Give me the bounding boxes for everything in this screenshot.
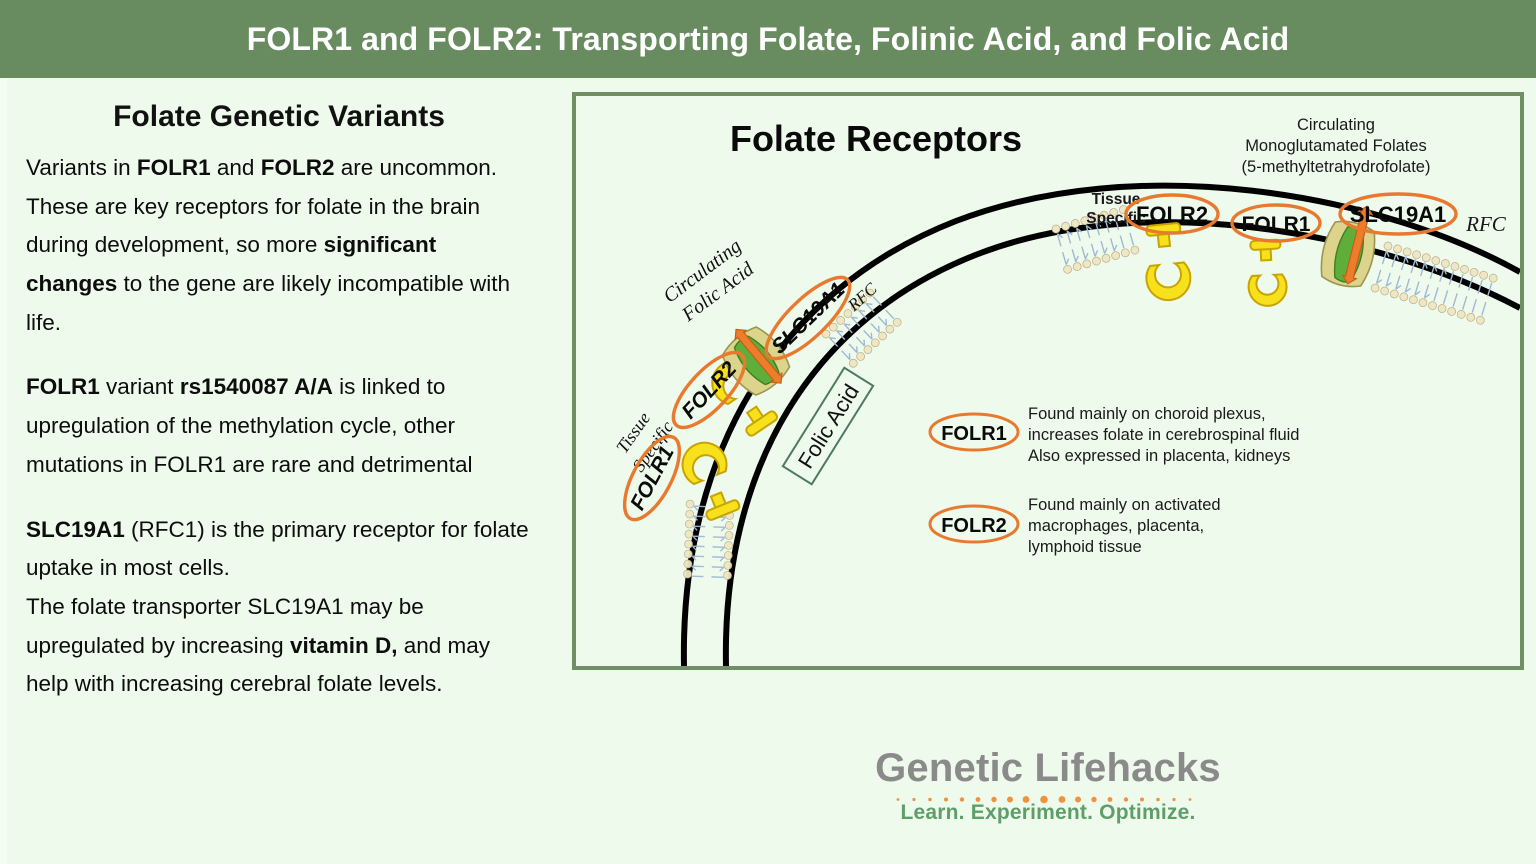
svg-text:FOLR2: FOLR2 xyxy=(941,515,1007,537)
svg-text:FOLR2: FOLR2 xyxy=(1136,202,1208,227)
svg-text:SLC19A1: SLC19A1 xyxy=(1350,202,1447,227)
svg-text:lymphoid tissue: lymphoid tissue xyxy=(1028,538,1142,556)
brand-tagline: Learn. Experiment. Optimize. xyxy=(572,801,1524,825)
paragraph-variants: Variants in FOLR1 and FOLR2 are uncommon… xyxy=(26,149,532,342)
diagram-panel: Folate Receptors Circulating Monoglutama… xyxy=(572,92,1524,670)
brand-name: Genetic Lifehacks xyxy=(572,748,1524,788)
page-header: FOLR1 and FOLR2: Transporting Folate, Fo… xyxy=(0,0,1536,78)
svg-text:Monoglutamated Folates: Monoglutamated Folates xyxy=(1245,137,1427,155)
svg-text:macrophages, placenta,: macrophages, placenta, xyxy=(1028,517,1204,535)
brand-logo: Genetic Lifehacks Learn. Experiment. Opt… xyxy=(572,748,1524,825)
folic-acid-box-label: Folic Acid xyxy=(783,368,873,484)
rfc-label-right: RFC xyxy=(1465,212,1507,236)
svg-text:increases folate in cerebrospi: increases folate in cerebrospinal fluid xyxy=(1028,426,1300,444)
brand-dot-divider xyxy=(572,791,1524,800)
svg-text:Also expressed in placenta, ki: Also expressed in placenta, kidneys xyxy=(1028,447,1290,465)
page-title: FOLR1 and FOLR2: Transporting Folate, Fo… xyxy=(247,21,1290,58)
section-heading: Folate Genetic Variants xyxy=(26,100,532,133)
svg-text:Found mainly on choroid plexus: Found mainly on choroid plexus, xyxy=(1028,405,1266,423)
slc19a1-tag-right: SLC19A1 xyxy=(1340,194,1456,234)
svg-text:FOLR1: FOLR1 xyxy=(1242,213,1311,236)
folr2-tag-left: FOLR2 xyxy=(662,342,755,438)
svg-text:(5-methyltetrahydrofolate): (5-methyltetrahydrofolate) xyxy=(1242,158,1431,176)
folr1-receptor-glyph-top xyxy=(1246,239,1287,307)
paragraph-folr1-variant: FOLR1 variant rs1540087 A/A is linked to… xyxy=(26,368,532,484)
diagram-title: Folate Receptors xyxy=(730,118,1022,159)
circulating-folic-acid-label: Circulating Folic Acid xyxy=(659,235,761,328)
svg-text:Found mainly on activated: Found mainly on activated xyxy=(1028,496,1221,514)
folr1-tag-top: FOLR1 xyxy=(1232,205,1320,241)
svg-text:Circulating: Circulating xyxy=(1297,116,1375,134)
left-text-column: Folate Genetic Variants Variants in FOLR… xyxy=(0,78,560,864)
svg-text:FOLR1: FOLR1 xyxy=(626,442,679,514)
legend-item-folr1: FOLR1 Found mainly on choroid plexus, in… xyxy=(930,405,1300,465)
paragraph-slc19a1: SLC19A1 (RFC1) is the primary receptor f… xyxy=(26,511,532,704)
legend-item-folr2: FOLR2 Found mainly on activated macropha… xyxy=(930,496,1221,556)
svg-text:FOLR1: FOLR1 xyxy=(941,423,1007,445)
folate-receptor-diagram: Folate Receptors Circulating Monoglutama… xyxy=(576,96,1520,666)
circulating-folates-label: Circulating Monoglutamated Folates (5-me… xyxy=(1242,116,1431,176)
